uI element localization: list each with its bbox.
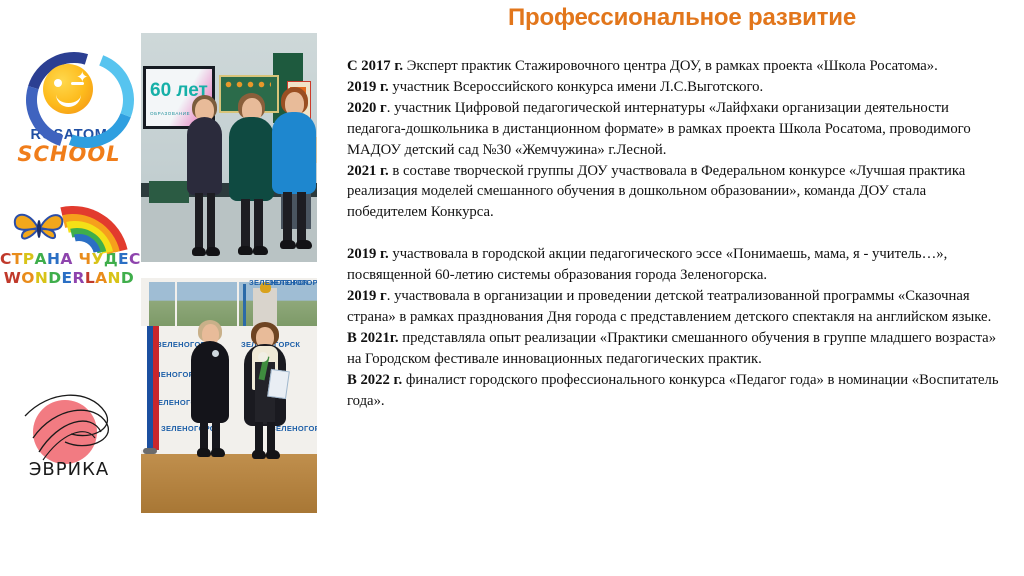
brooch <box>212 350 219 357</box>
flower-icon <box>258 352 268 362</box>
photo2-person-right <box>239 322 293 464</box>
leg-right <box>254 199 263 248</box>
paragraph-2021-festival-lead: В 2021г. <box>347 330 399 346</box>
wonderland-art-icon <box>5 198 133 250</box>
logo-rosatom-school: ✦ ROSATOM SCHOOL <box>0 52 138 167</box>
photo-conference: 60 лет ОБРАЗОВАНИЕ <box>141 33 317 262</box>
paragraph-2019-essay: 2019 г. участвовала в городской акции пе… <box>347 244 1005 286</box>
paragraph-2017-lead: С 2017 г. <box>347 58 403 74</box>
photo2-person-left <box>185 320 235 462</box>
butterfly-icon <box>11 208 67 248</box>
paragraph-2020-text: . участник Цифровой педагогической интер… <box>347 100 971 158</box>
dress <box>187 117 222 195</box>
diploma-certificate <box>267 369 290 399</box>
shoe-right <box>211 448 225 457</box>
rosatom-smiley-face-icon: ✦ <box>43 64 93 114</box>
leg-left <box>283 192 292 242</box>
leg-left <box>255 422 263 452</box>
paragraph-2017: С 2017 г. Эксперт практик Стажировочного… <box>347 56 1005 77</box>
sparkle-icon: ✦ <box>76 70 89 85</box>
dress <box>272 112 316 194</box>
photo2-russian-flag <box>141 326 159 450</box>
logo-wonderland: Страна чудес WONDERLAND <box>0 198 138 306</box>
shoe-left <box>238 246 253 255</box>
paragraph-2019-essay-lead: 2019 г. <box>347 246 389 262</box>
shoe-right <box>206 247 220 256</box>
shoe-left <box>280 240 296 249</box>
page-title: Профессиональное развитие <box>340 4 1024 32</box>
shoe-right <box>296 240 312 249</box>
paragraph-2017-text: Эксперт практик Стажировочного центра ДО… <box>403 58 938 74</box>
paragraph-2022: В 2022 г. финалист городского профессион… <box>347 370 1005 412</box>
dress <box>229 117 274 201</box>
shoe-right <box>266 450 280 459</box>
paragraph-2021-federal-text: в составе творческой группы ДОУ участвов… <box>347 163 965 221</box>
leg-right <box>267 422 275 452</box>
rosatom-mark-icon: ✦ <box>24 52 114 126</box>
photo2-spire <box>243 284 246 326</box>
paragraph-2020-lead: 2020 г <box>347 100 387 116</box>
shoe-left <box>197 448 211 457</box>
photo1-person-middle <box>227 93 277 261</box>
shoe-right <box>253 246 268 255</box>
smiley-eye-left-icon <box>54 79 62 87</box>
paragraph-2021-festival-text: представляла опыт реализации «Практики с… <box>347 330 996 367</box>
photo2-banner-word: ЗЕЛЕНОГОРСК <box>249 278 308 287</box>
leg-right <box>212 420 220 450</box>
shoe-left <box>252 450 266 459</box>
paragraph-2020: 2020 г. участник Цифровой педагогической… <box>347 98 1005 161</box>
photo1-board-decor <box>223 79 271 89</box>
photo2-city-divider <box>175 282 177 326</box>
paragraph-gap <box>347 223 1005 244</box>
smiley-mouth-icon <box>56 90 81 107</box>
leg-left <box>200 420 208 450</box>
paragraph-2021-festival: В 2021г. представляла опыт реализации «П… <box>347 328 1005 370</box>
paragraph-2022-text: финалист городского профессионального ко… <box>347 372 999 409</box>
photo-award: ЗЕЛЕНОГОРСК ЗЕЛЕНОГОРСК ЗЕЛЕНОГОРСК ЗЕЛЕ… <box>141 278 317 513</box>
photo2-flag-base <box>143 448 157 454</box>
paragraph-2019a-lead: 2019 г. <box>347 79 389 95</box>
paragraph-2019-theatre-lead: 2019 г <box>347 288 387 304</box>
leg-right <box>207 193 215 249</box>
body-text: С 2017 г. Эксперт практик Стажировочного… <box>347 56 1005 412</box>
photo1-person-left <box>183 95 227 260</box>
leg-right <box>297 192 306 242</box>
paragraph-2019a-text: участник Всероссийского конкурса имени Л… <box>389 79 763 95</box>
evrika-wordmark: ЭВРИКА <box>9 459 129 480</box>
paragraph-2021-federal-lead: 2021 г. <box>347 163 389 179</box>
suit <box>191 341 229 423</box>
photo2-city-divider <box>237 282 239 326</box>
leg-left <box>195 193 203 249</box>
paragraph-2019-essay-text: участвовала в городской акции педагогиче… <box>347 246 947 283</box>
evrika-art-icon: ЭВРИКА <box>9 376 129 494</box>
paragraph-2019-theatre-text: . участвовала в организации и проведении… <box>347 288 991 325</box>
logo-evrika: ЭВРИКА <box>0 376 138 496</box>
paragraph-2021-federal: 2021 г. в составе творческой группы ДОУ … <box>347 161 1005 224</box>
photo2-church <box>253 288 277 326</box>
leg-left <box>241 199 250 248</box>
shoe-left <box>192 247 206 256</box>
logo-column: ✦ ROSATOM SCHOOL Страна чудес <box>0 0 138 576</box>
photo1-person-right <box>271 87 317 259</box>
paragraph-2019-theatre: 2019 г. участвовала в организации и пров… <box>347 286 1005 328</box>
paragraph-2019a: 2019 г. участник Всероссийского конкурса… <box>347 77 1005 98</box>
paragraph-2022-lead: В 2022 г. <box>347 372 402 388</box>
